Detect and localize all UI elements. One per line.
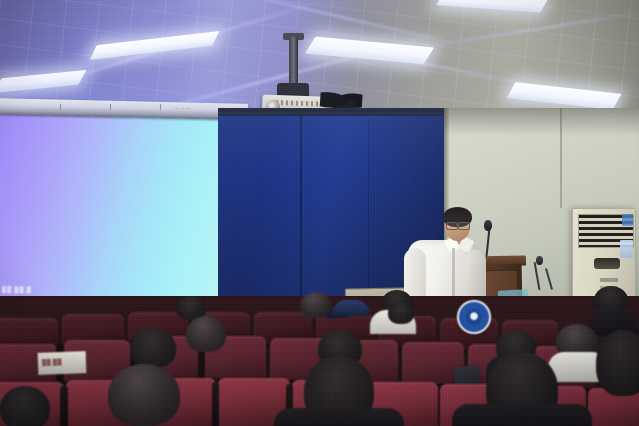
audience-shoulders [274,408,404,426]
armrest [60,386,68,426]
audience-head-foreground [0,386,50,426]
air-conditioner-display [594,258,620,269]
screen-faint-text: ▉▉ ▉▉,▉ [2,286,42,297]
microphone-icon [484,220,492,231]
wall-shadow [444,108,639,136]
housing-tick [60,104,61,110]
air-conditioner-sticker [622,214,633,226]
air-conditioner-label [600,278,618,282]
audience-shoulders [452,404,592,426]
air-conditioner-sticker [620,240,633,258]
housing-tick [160,104,161,110]
audience-head-foreground [596,330,639,396]
housing-tick [110,104,111,110]
glasses-bridge [456,224,459,225]
glasses-icon [458,222,470,230]
projection-screen [0,111,228,311]
audience-head [388,302,414,324]
audience-head-foreground [108,364,180,426]
audience-head [130,328,176,368]
emblem-center-icon [466,309,482,325]
microphone-icon [536,256,543,265]
projector-mount-pole [289,37,298,89]
baseball-cap [332,300,370,316]
audience-head [186,316,226,352]
seat-reserved-card-text: ▉▉ ▉▉ [42,357,82,368]
lecture-hall-photo: ▉▉ ▉▉,▉ — — — [0,0,639,426]
armrest [212,382,219,426]
